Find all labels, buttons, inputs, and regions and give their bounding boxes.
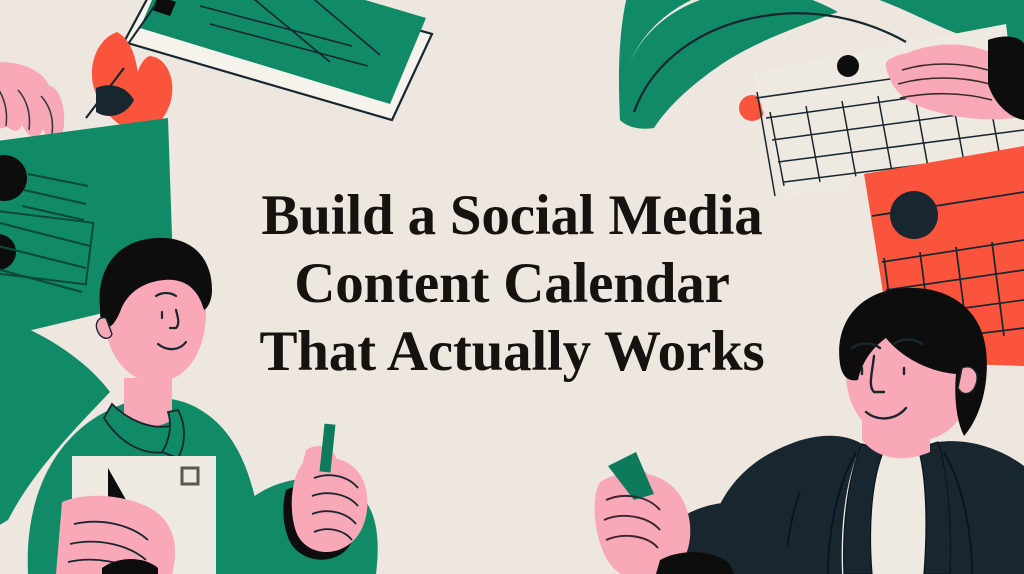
calendar-marker-dot bbox=[837, 55, 859, 77]
whiteboard-square-icon bbox=[182, 468, 198, 484]
hero-banner: Build a Social Media Content Calendar Th… bbox=[0, 0, 1024, 574]
illustration-canvas bbox=[0, 0, 1024, 574]
red-calendar-dot bbox=[890, 191, 938, 239]
